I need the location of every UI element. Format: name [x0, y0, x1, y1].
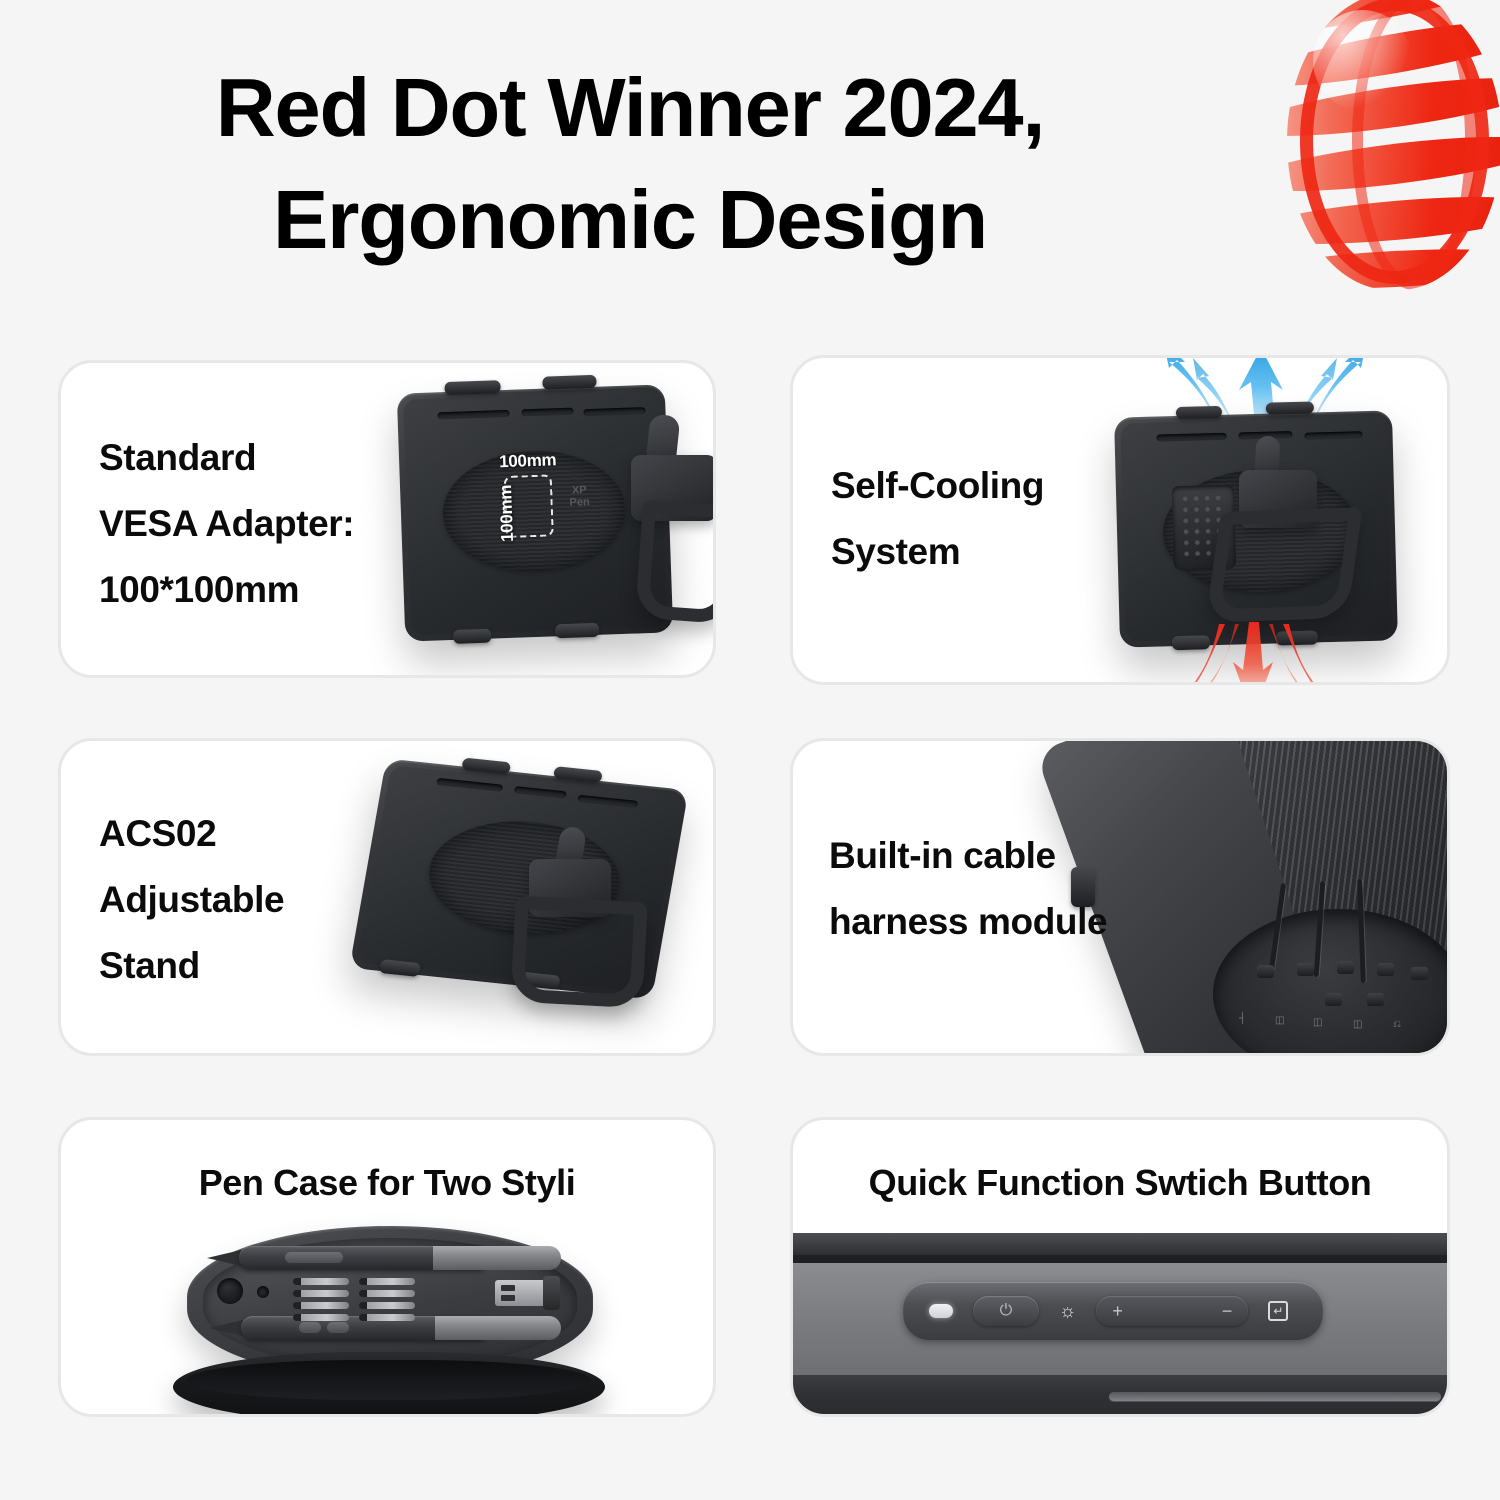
card-self-cooling: Self-Cooling System	[790, 355, 1450, 685]
card-cable-harness: Built-in cable harness module ┤ ◫ ◫	[790, 738, 1450, 1056]
plus-icon: +	[1112, 1301, 1123, 1322]
card-quick-function-switch: Quick Function Swtich Button ⏻ ☼ + − ↵	[790, 1117, 1450, 1417]
card-cable-line-1: Built-in cable	[829, 823, 1107, 889]
card-cable-text: Built-in cable harness module	[829, 823, 1107, 955]
vesa-width-label: 100mm	[499, 450, 557, 472]
header: Red Dot Winner 2024, Ergonomic Design	[0, 0, 1500, 330]
red-dot-award-logo-icon	[1283, 0, 1500, 297]
minus-icon: −	[1222, 1301, 1233, 1322]
brand-pen: Pen	[569, 496, 590, 509]
brightness-rocker[interactable]: + −	[1096, 1296, 1248, 1326]
infographic-page: Red Dot Winner 2024, Ergonomic Design St…	[0, 0, 1500, 1500]
status-led-indicator	[929, 1304, 953, 1318]
page-title: Red Dot Winner 2024, Ergonomic Design	[0, 52, 1260, 276]
power-button[interactable]: ⏻	[973, 1296, 1039, 1326]
card-pen-case-heading: Pen Case for Two Styli	[61, 1162, 713, 1204]
card-pen-case: Pen Case for Two Styli	[58, 1117, 716, 1417]
card-stand-line-2: Adjustable	[99, 867, 284, 933]
card-cooling-text: Self-Cooling System	[831, 453, 1044, 585]
vesa-height-label: 100mm	[496, 485, 518, 543]
card-adjustable-stand: ACS02 Adjustable Stand	[58, 738, 716, 1056]
card-stand-line-1: ACS02	[99, 801, 284, 867]
power-icon: ⏻	[1000, 1302, 1013, 1320]
card-vesa-adapter: Standard VESA Adapter: 100*100mm 100mm 1…	[58, 360, 716, 678]
card-stand-line-3: Stand	[99, 933, 284, 999]
card-vesa-line-3: 100*100mm	[99, 557, 354, 623]
brightness-icon: ☼	[1059, 1302, 1076, 1321]
card-cable-line-2: harness module	[829, 889, 1107, 955]
card-vesa-line-2: VESA Adapter:	[99, 491, 354, 557]
title-line-2: Ergonomic Design	[0, 164, 1260, 276]
input-source-glyph: ↵	[1273, 1304, 1283, 1318]
card-vesa-text: Standard VESA Adapter: 100*100mm	[99, 425, 354, 623]
card-switch-heading: Quick Function Swtich Button	[793, 1162, 1447, 1204]
card-cooling-line-2: System	[831, 519, 1044, 585]
card-cooling-line-1: Self-Cooling	[831, 453, 1044, 519]
input-source-icon[interactable]: ↵	[1268, 1301, 1288, 1321]
quick-function-button-bar[interactable]: ⏻ ☼ + − ↵	[903, 1282, 1323, 1340]
title-line-1: Red Dot Winner 2024,	[0, 52, 1260, 164]
card-vesa-line-1: Standard	[99, 425, 354, 491]
card-stand-text: ACS02 Adjustable Stand	[99, 801, 284, 999]
